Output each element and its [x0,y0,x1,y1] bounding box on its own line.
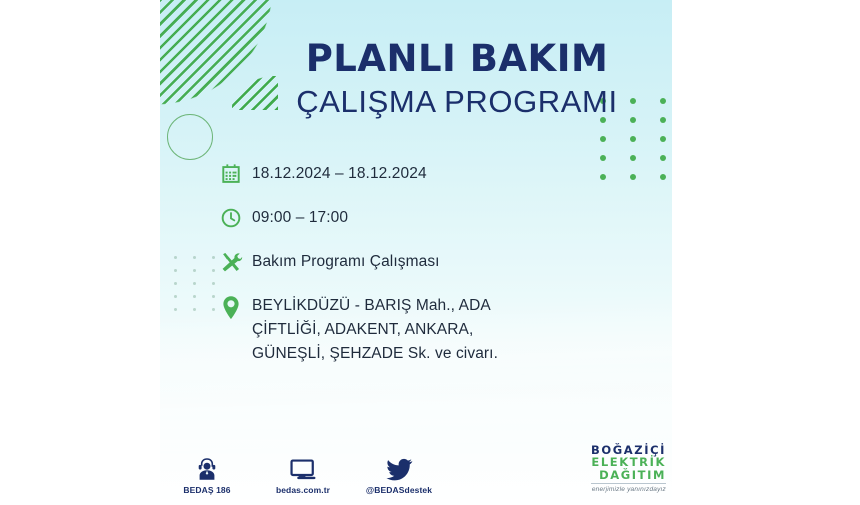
page-subtitle: ÇALIŞMA PROGRAMI [160,83,672,120]
maintenance-schedule-poster: PLANLI BAKIM ÇALIŞMA PROGRAMI 18.12.2024… [160,0,672,505]
detail-row-date: 18.12.2024 – 18.12.2024 [220,160,640,188]
contact-website-label: bedas.com.tr [268,485,338,495]
logo-line-3: DAĞITIM [591,469,666,481]
detail-time-text: 09:00 – 17:00 [252,204,348,230]
detail-worktype-text: Bakım Programı Çalışması [252,248,440,274]
monitor-icon [268,452,338,482]
address-line-1: BEYLİKDÜZÜ - BARIŞ Mah., ADA [252,297,491,314]
circle-outline-decoration [167,114,213,160]
logo-line-2: ELEKTRİK [591,456,666,468]
location-pin-icon [220,292,252,322]
contact-twitter[interactable]: @BEDASdestek [364,452,434,495]
support-agent-icon [172,452,242,482]
address-line-3: GÜNEŞLİ, ŞEHZADE Sk. ve civarı. [252,345,498,362]
schedule-details: 18.12.2024 – 18.12.2024 09:00 – 17:00 [220,160,640,366]
address-line-2: ÇİFTLİĞİ, ADAKENT, ANKARA, [252,321,473,338]
contact-channels: BEDAŞ 186 bedas.com.tr [172,452,434,495]
logo-tagline: enerjimizle yanınızdayız [591,486,666,493]
detail-address-text: BEYLİKDÜZÜ - BARIŞ Mah., ADA ÇİFTLİĞİ, A… [252,292,498,366]
twitter-bird-icon [364,452,434,482]
detail-row-time: 09:00 – 17:00 [220,204,640,232]
contact-website[interactable]: bedas.com.tr [268,452,338,495]
detail-date-text: 18.12.2024 – 18.12.2024 [252,160,427,186]
clock-icon [220,204,252,232]
detail-row-address: BEYLİKDÜZÜ - BARIŞ Mah., ADA ÇİFTLİĞİ, A… [220,292,640,366]
bedas-logo: BOĞAZİÇİ ELEKTRİK DAĞITIM enerjimizle ya… [591,444,666,493]
contact-call-center[interactable]: BEDAŞ 186 [172,452,242,495]
page-title: PLANLI BAKIM [160,40,672,79]
tools-icon [220,248,252,276]
logo-divider [591,483,666,484]
contact-twitter-label: @BEDASdestek [364,485,434,495]
detail-row-worktype: Bakım Programı Çalışması [220,248,640,276]
poster-footer: BEDAŞ 186 bedas.com.tr [160,437,672,497]
screenshot-root: PLANLI BAKIM ÇALIŞMA PROGRAMI 18.12.2024… [0,0,860,505]
poster-title-block: PLANLI BAKIM ÇALIŞMA PROGRAMI [160,40,672,120]
contact-call-center-label: BEDAŞ 186 [172,485,242,495]
dot-grid-left-decoration [174,256,215,311]
calendar-icon [220,160,252,188]
